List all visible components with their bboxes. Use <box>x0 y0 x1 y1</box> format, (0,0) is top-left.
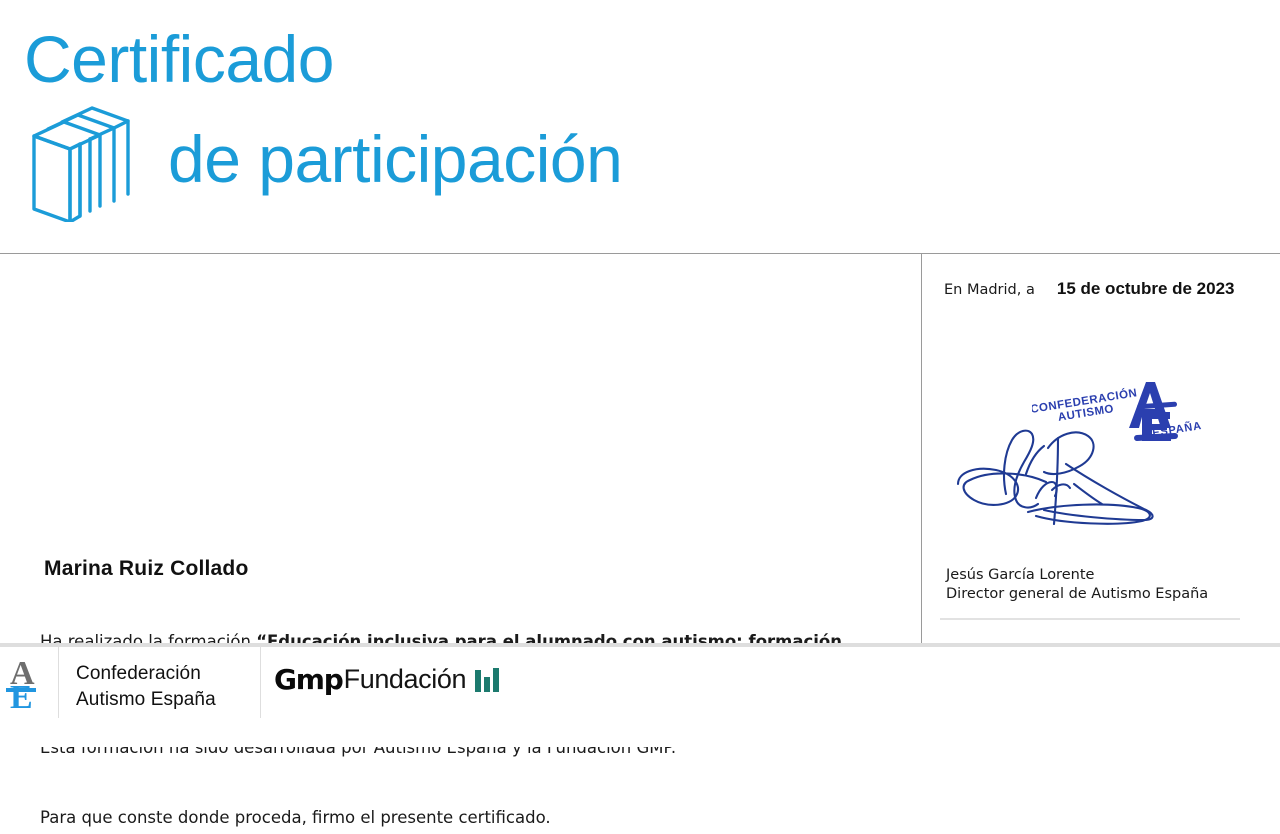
signature-underline <box>940 618 1240 620</box>
footer-divider-1 <box>58 647 59 718</box>
recipient-name: Marina Ruiz Collado <box>44 557 248 581</box>
footer-confederation-name: Confederación Autismo España <box>76 661 216 713</box>
footer-confederation-line1: Confederación <box>76 661 216 687</box>
page-title-line2: de participación <box>168 122 622 196</box>
gmp-brand: Gmp <box>274 663 343 696</box>
gmp-fundacion-logo: Gmp Fundación <box>274 662 502 696</box>
stacked-books-icon <box>24 106 144 222</box>
gmp-fundacion-word: Fundación <box>344 664 467 695</box>
gmp-bars-icon <box>475 666 502 692</box>
closing-paragraph: Para que conste donde proceda, firmo el … <box>40 802 885 834</box>
issue-date: 15 de octubre de 2023 <box>1057 279 1235 298</box>
signer-name: Jesús García Lorente <box>946 566 1208 585</box>
date-row: En Madrid, a15 de octubre de 2023 <box>944 279 1235 299</box>
ae-monogram-logo: A E <box>4 650 52 714</box>
certificate-header: Certificado de participación <box>0 0 1280 253</box>
handwritten-signature <box>940 424 1200 534</box>
signer-block: Jesús García Lorente Director general de… <box>946 566 1208 604</box>
page-title-line1: Certificado <box>24 22 334 96</box>
footer-confederation-line2: Autismo España <box>76 687 216 713</box>
ae-monogram-letter-e: E <box>10 679 33 714</box>
footer-divider-2 <box>260 647 261 718</box>
place-label: En Madrid, a <box>944 282 1035 298</box>
footer-bottom-space <box>0 718 1280 747</box>
signer-title: Director general de Autismo España <box>946 585 1208 604</box>
signature-panel: En Madrid, a15 de octubre de 2023 CONFED… <box>922 254 1280 643</box>
